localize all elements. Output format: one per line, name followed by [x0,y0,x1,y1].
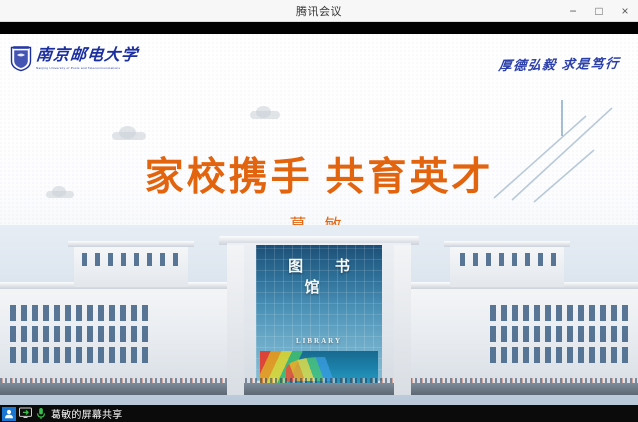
close-button[interactable]: × [612,0,638,22]
building-sign-cn: 图 书 馆 [256,255,382,297]
slide-header: 南京邮电大学 Nanjing University of Posts and T… [0,44,638,84]
building-upper-right [450,245,564,287]
library-building-photo: 图 书 馆 LIBRARY [0,225,638,405]
university-logo: 南京邮电大学 Nanjing University of Posts and T… [10,46,138,72]
tencent-meeting-window: 腾讯会议 − □ × [0,0,638,422]
window-controls: − □ × [560,0,638,22]
school-motto: 厚德弘毅 求是笃行 [498,53,621,75]
monitor-icon[interactable] [19,407,33,420]
window-title: 腾讯会议 [296,3,342,19]
window-grid [460,253,556,266]
window-grid [490,305,628,363]
person-icon[interactable] [2,407,16,421]
building-upper-left [74,245,188,287]
logo-wordmark: 南京邮电大学 Nanjing University of Posts and T… [36,48,138,70]
building-upper-roof-right [444,241,570,247]
shield-emblem-icon [10,46,32,72]
maximize-button[interactable]: □ [586,0,612,22]
window-grid [10,305,148,363]
university-name-cn: 南京邮电大学 [35,48,139,65]
cloud-decoration [250,106,280,119]
minimize-button[interactable]: − [560,0,586,22]
screen-share-label: 葛敏的屏幕共享 [51,406,122,421]
window-grid [82,253,178,266]
microphone-icon[interactable] [36,407,46,420]
cloud-decoration [112,126,146,140]
building-upper-roof-left [68,241,194,247]
building-pier-right [394,245,411,395]
meeting-taskbar: 葛敏的屏幕共享 [0,405,638,422]
slide-main-title: 家校携手 共育英才 [0,146,638,202]
university-name-en: Nanjing University of Posts and Telecomm… [36,66,138,70]
building-pier-left [227,245,244,395]
video-letterbox-top [0,22,638,34]
shared-screen-content[interactable]: 南京邮电大学 Nanjing University of Posts and T… [0,34,638,405]
title-bar: 腾讯会议 − □ × [0,0,638,22]
building-sign-en: LIBRARY [256,337,382,345]
plaza-ground [0,383,638,395]
library-building: 图 书 馆 LIBRARY [0,225,638,395]
